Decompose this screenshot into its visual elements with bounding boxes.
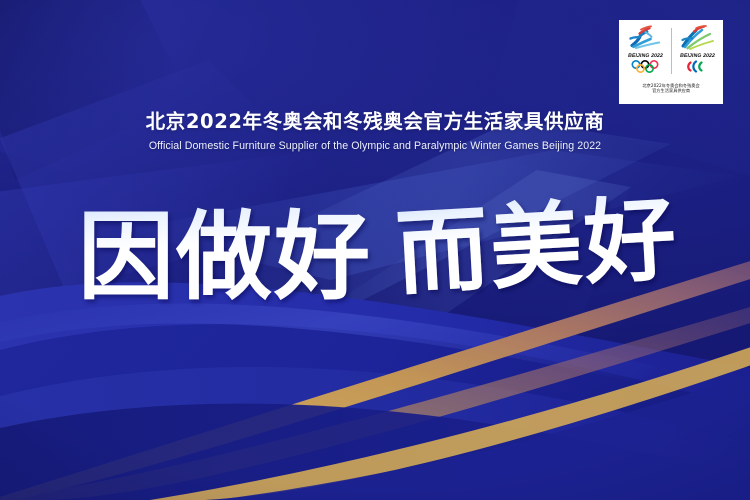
headline-block: 北京2022年冬奥会和冬残奥会官方生活家具供应商 Official Domest… <box>0 110 750 152</box>
paralympic-wordmark: BEIJING 2022 <box>679 53 715 59</box>
official-supplier-logo-card: BEIJING 2022 <box>619 20 723 104</box>
slogan-part-1: 因做好 <box>78 200 372 313</box>
olympic-rings-icon <box>630 60 660 74</box>
headline-chinese: 北京2022年冬奥会和冬残奥会官方生活家具供应商 <box>0 110 750 134</box>
headline-english: Official Domestic Furniture Supplier of … <box>0 140 750 152</box>
paralympic-emblem-group: BEIJING 2022 <box>672 24 723 74</box>
olympic-supplier-banner: 北京2022年冬奥会和冬残奥会官方生活家具供应商 Official Domest… <box>0 0 750 500</box>
caption-line-2: 官方生活家具供应商 <box>642 88 699 93</box>
logo-card-caption: 北京2022年冬奥会和冬残奥会 官方生活家具供应商 <box>643 83 699 93</box>
beijing-2022-paralympic-emblem-icon <box>675 24 719 52</box>
beijing-2022-olympic-emblem-icon <box>623 24 667 52</box>
slogan-block: 因做好 而美好 <box>0 186 750 326</box>
paralympic-agitos-icon <box>686 60 708 74</box>
olympic-emblem-group: BEIJING 2022 <box>620 24 671 74</box>
slogan-part-2: 而美好 <box>393 184 681 308</box>
emblem-row: BEIJING 2022 <box>619 24 723 82</box>
olympic-wordmark: BEIJING 2022 <box>627 53 663 59</box>
